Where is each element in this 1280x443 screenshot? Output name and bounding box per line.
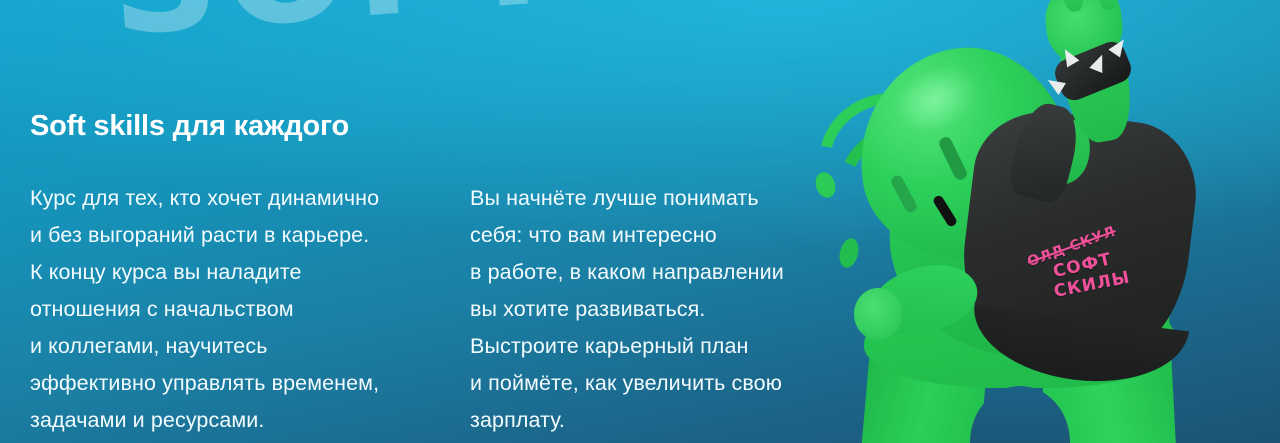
description-column-left: Курс для тех, кто хочет динамично и без … bbox=[30, 180, 460, 439]
description-text-right: Вы начнёте лучше понимать себя: что вам … bbox=[470, 180, 870, 439]
soft-skills-promo-banner: SOFT SKILLS Soft skills для каждого Курс… bbox=[0, 0, 1280, 443]
antenna-secondary-tip-icon bbox=[837, 236, 862, 269]
page-title: Soft skills для каждого bbox=[30, 110, 349, 143]
mascot-elbow bbox=[854, 288, 902, 340]
mascot-illustration: ОЛД СКУЛ СОФТ СКИЛЫ bbox=[820, 0, 1280, 443]
description-column-right: Вы начнёте лучше понимать себя: что вам … bbox=[470, 180, 870, 439]
description-text-left: Курс для тех, кто хочет динамично и без … bbox=[30, 180, 460, 439]
banner-copy-block: Soft skills для каждого Курс для тех, кт… bbox=[0, 0, 880, 443]
